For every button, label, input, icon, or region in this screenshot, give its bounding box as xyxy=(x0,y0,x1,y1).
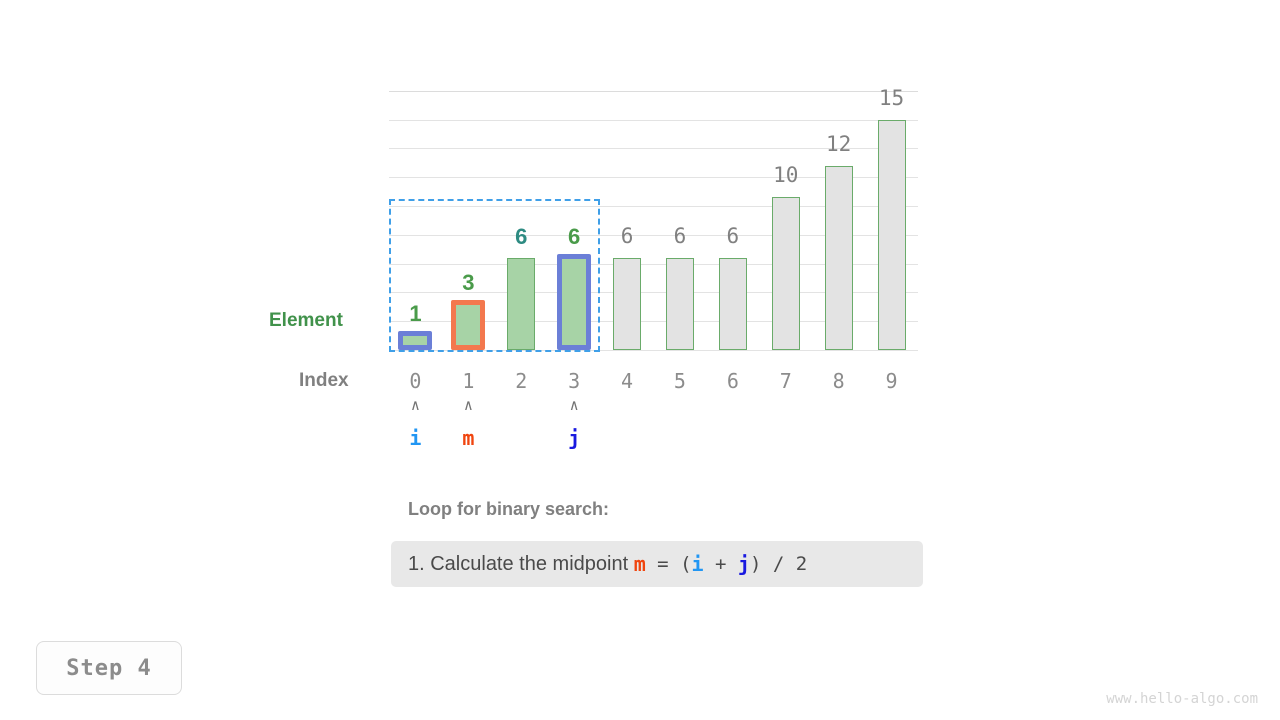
index-label-1: 1 xyxy=(438,369,498,393)
axis-title-index: Index xyxy=(299,370,349,392)
watermark: www.hello-algo.com xyxy=(1106,691,1258,707)
bar-6[interactable] xyxy=(719,258,747,350)
bar-value-label-6: 6 xyxy=(703,224,763,248)
index-label-4: 4 xyxy=(597,369,657,393)
formula-paren-close: ) xyxy=(750,553,761,575)
formula-var-i: i xyxy=(692,552,704,576)
slide-canvas: 10316263646566107128159∧i∧m∧j Element In… xyxy=(0,0,1280,720)
index-label-7: 7 xyxy=(756,369,816,393)
bar-value-label-9: 15 xyxy=(862,86,922,110)
gridline xyxy=(389,91,918,92)
pointer-label-m: m xyxy=(443,428,493,448)
formula-paren-open: ( xyxy=(680,553,691,575)
formula-var-j: j xyxy=(738,552,750,576)
step-badge: Step 4 xyxy=(36,641,182,695)
pointer-label-i: i xyxy=(390,428,440,448)
bar-4[interactable] xyxy=(613,258,641,350)
index-label-9: 9 xyxy=(862,369,922,393)
index-label-2: 2 xyxy=(491,369,551,393)
formula-eq: = xyxy=(646,553,680,575)
pointer-caret-m: ∧ xyxy=(443,398,493,413)
pointer-caret-j: ∧ xyxy=(549,398,599,413)
formula-two: 2 xyxy=(796,553,807,575)
bar-value-label-7: 10 xyxy=(756,163,816,187)
bar-7[interactable] xyxy=(772,197,800,350)
pointer-caret-i: ∧ xyxy=(390,398,440,413)
bar-5[interactable] xyxy=(666,258,694,350)
search-range-box xyxy=(389,199,600,352)
formula-plus: + xyxy=(704,553,738,575)
index-label-8: 8 xyxy=(809,369,869,393)
formula-lead: 1. Calculate the midpoint xyxy=(408,553,634,576)
bar-value-label-8: 12 xyxy=(809,132,869,156)
bar-9[interactable] xyxy=(878,120,906,350)
formula-divide: / xyxy=(761,553,795,575)
formula-text: 1. Calculate the midpoint m = ( i + j ) … xyxy=(408,541,807,587)
gridline xyxy=(389,120,918,121)
caption-title: Loop for binary search: xyxy=(408,499,609,520)
index-label-3: 3 xyxy=(544,369,604,393)
formula-var-m: m xyxy=(634,552,646,576)
bar-value-label-5: 6 xyxy=(650,224,710,248)
bar-value-label-4: 6 xyxy=(597,224,657,248)
bar-8[interactable] xyxy=(825,166,853,350)
index-label-0: 0 xyxy=(385,369,445,393)
axis-title-element: Element xyxy=(269,310,343,332)
pointer-label-j: j xyxy=(549,428,599,448)
index-label-5: 5 xyxy=(650,369,710,393)
bar-chart: 10316263646566107128159∧i∧m∧j xyxy=(0,0,1280,720)
index-label-6: 6 xyxy=(703,369,763,393)
